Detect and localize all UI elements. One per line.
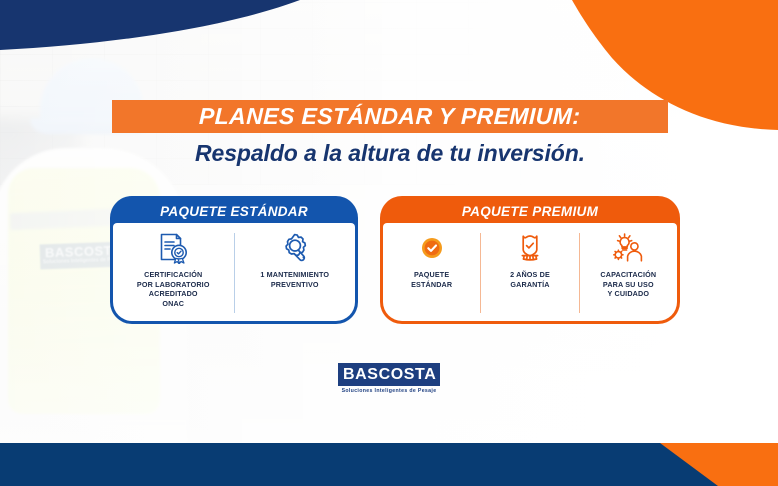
bascosta-logo-box: BASCOSTA [338, 363, 440, 386]
bascosta-logo: BASCOSTA Soluciones Inteligentes de Pesa… [338, 363, 440, 394]
package-card-estandar-header: PAQUETE ESTÁNDAR [113, 199, 355, 223]
feature-capacitacion: CAPACITACIÓN PARA SU USO Y CUIDADO [580, 231, 677, 299]
bascosta-logo-tagline: Soluciones Inteligentes de Pesaje [338, 388, 440, 394]
gear-wrench-icon [279, 231, 311, 265]
subtitle-text: Respaldo a la altura de tu inversión. [112, 140, 668, 167]
certificate-seal-icon [156, 231, 190, 265]
package-card-premium-title: PAQUETE PREMIUM [462, 204, 598, 219]
feature-paquete-estandar: PAQUETE ESTÁNDAR [383, 231, 480, 289]
feature-paquete-estandar-label: PAQUETE ESTÁNDAR [411, 270, 452, 289]
package-card-estandar[interactable]: PAQUETE ESTÁNDAR [110, 196, 358, 324]
title-banner-text: PLANES ESTÁNDAR Y PREMIUM: [199, 103, 581, 130]
check-circle-icon [421, 231, 443, 265]
bascosta-logo-name: BASCOSTA [343, 367, 435, 383]
feature-mantenimiento-label: 1 MANTENIMIENTO PREVENTIVO [260, 270, 329, 289]
feature-garantia-label: 2 AÑOS DE GARANTÍA [510, 270, 550, 289]
poster-canvas: BASCOSTA Soluciones Inteligentes de Pesa… [0, 0, 778, 486]
feature-garantia: 2 AÑOS DE GARANTÍA [481, 231, 578, 289]
feature-certificacion: CERTIFICACIÓN POR LABORATORIO ACREDITADO… [113, 231, 234, 308]
title-banner: PLANES ESTÁNDAR Y PREMIUM: [112, 100, 668, 133]
feature-capacitacion-label: CAPACITACIÓN PARA SU USO Y CUIDADO [600, 270, 656, 299]
package-card-premium-body: PAQUETE ESTÁNDAR 2 AÑOS DE G [383, 223, 677, 321]
package-card-premium[interactable]: PAQUETE PREMIUM PAQUETE ESTÁNDAR [380, 196, 680, 324]
training-bulb-icon [611, 231, 645, 265]
feature-mantenimiento: 1 MANTENIMIENTO PREVENTIVO [235, 231, 356, 289]
package-card-estandar-body: CERTIFICACIÓN POR LABORATORIO ACREDITADO… [113, 223, 355, 321]
shield-warranty-icon [515, 231, 545, 265]
feature-certificacion-label: CERTIFICACIÓN POR LABORATORIO ACREDITADO… [137, 270, 210, 308]
package-card-premium-header: PAQUETE PREMIUM [383, 199, 677, 223]
package-card-estandar-title: PAQUETE ESTÁNDAR [160, 204, 308, 219]
